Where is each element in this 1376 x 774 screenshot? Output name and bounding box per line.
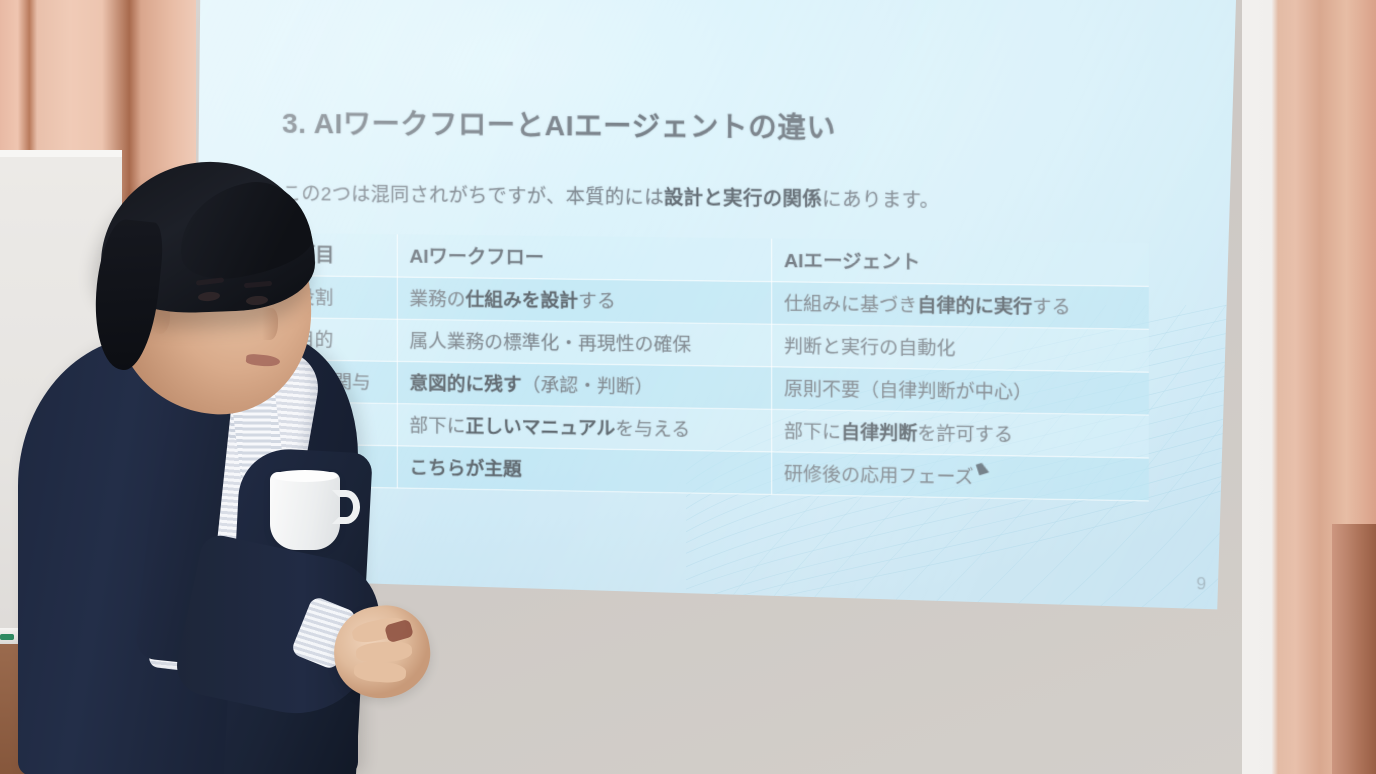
cell-bold: 自律的に実行 [917, 294, 1032, 317]
subtitle-emphasis: 設計と実行の関係 [664, 188, 822, 211]
cell-post: する [1032, 296, 1070, 318]
row-agent: 研修後の応用フェーズ [771, 452, 1149, 501]
cell-pre: 仕組みに基づき [784, 292, 917, 315]
coffee-cup [270, 472, 340, 550]
cell-bold: 自律判断 [841, 421, 917, 444]
cell-bold: 仕組みを設計 [466, 288, 579, 311]
header-agent: AIエージェント [771, 239, 1149, 287]
cell-post: （承認・判断） [522, 374, 654, 397]
row-agent: 原則不要（自律判断が中心） [771, 367, 1149, 415]
cell-post: を許可する [917, 422, 1013, 445]
cell-post: する [578, 290, 616, 312]
nose [262, 308, 278, 340]
presenter-person [0, 150, 470, 774]
row-agent: 部下に自律判断を許可する [771, 409, 1149, 458]
row-agent: 判断と実行の自動化 [771, 324, 1149, 372]
cell-pre: 判断と実行の自動化 [784, 335, 956, 359]
cell-bold: 正しいマニュアル [466, 415, 616, 439]
cup-handle [332, 490, 360, 524]
curtain-right-shadow [1332, 524, 1376, 774]
slide-page-number: 9 [1196, 574, 1206, 595]
row-agent: 仕組みに基づき自律的に実行する [771, 282, 1149, 330]
slide-title: 3. AIワークフローとAIエージェントの違い [282, 102, 836, 147]
subtitle-suffix: にあります。 [822, 189, 939, 212]
cell-pre: 原則不要（自律判断が中心） [784, 378, 1032, 403]
cell-post: を与える [615, 418, 690, 440]
cup-rim [272, 470, 338, 482]
cell-pre: 研修後の応用フェーズ [784, 463, 974, 488]
cell-pre: 部下に [784, 420, 841, 442]
